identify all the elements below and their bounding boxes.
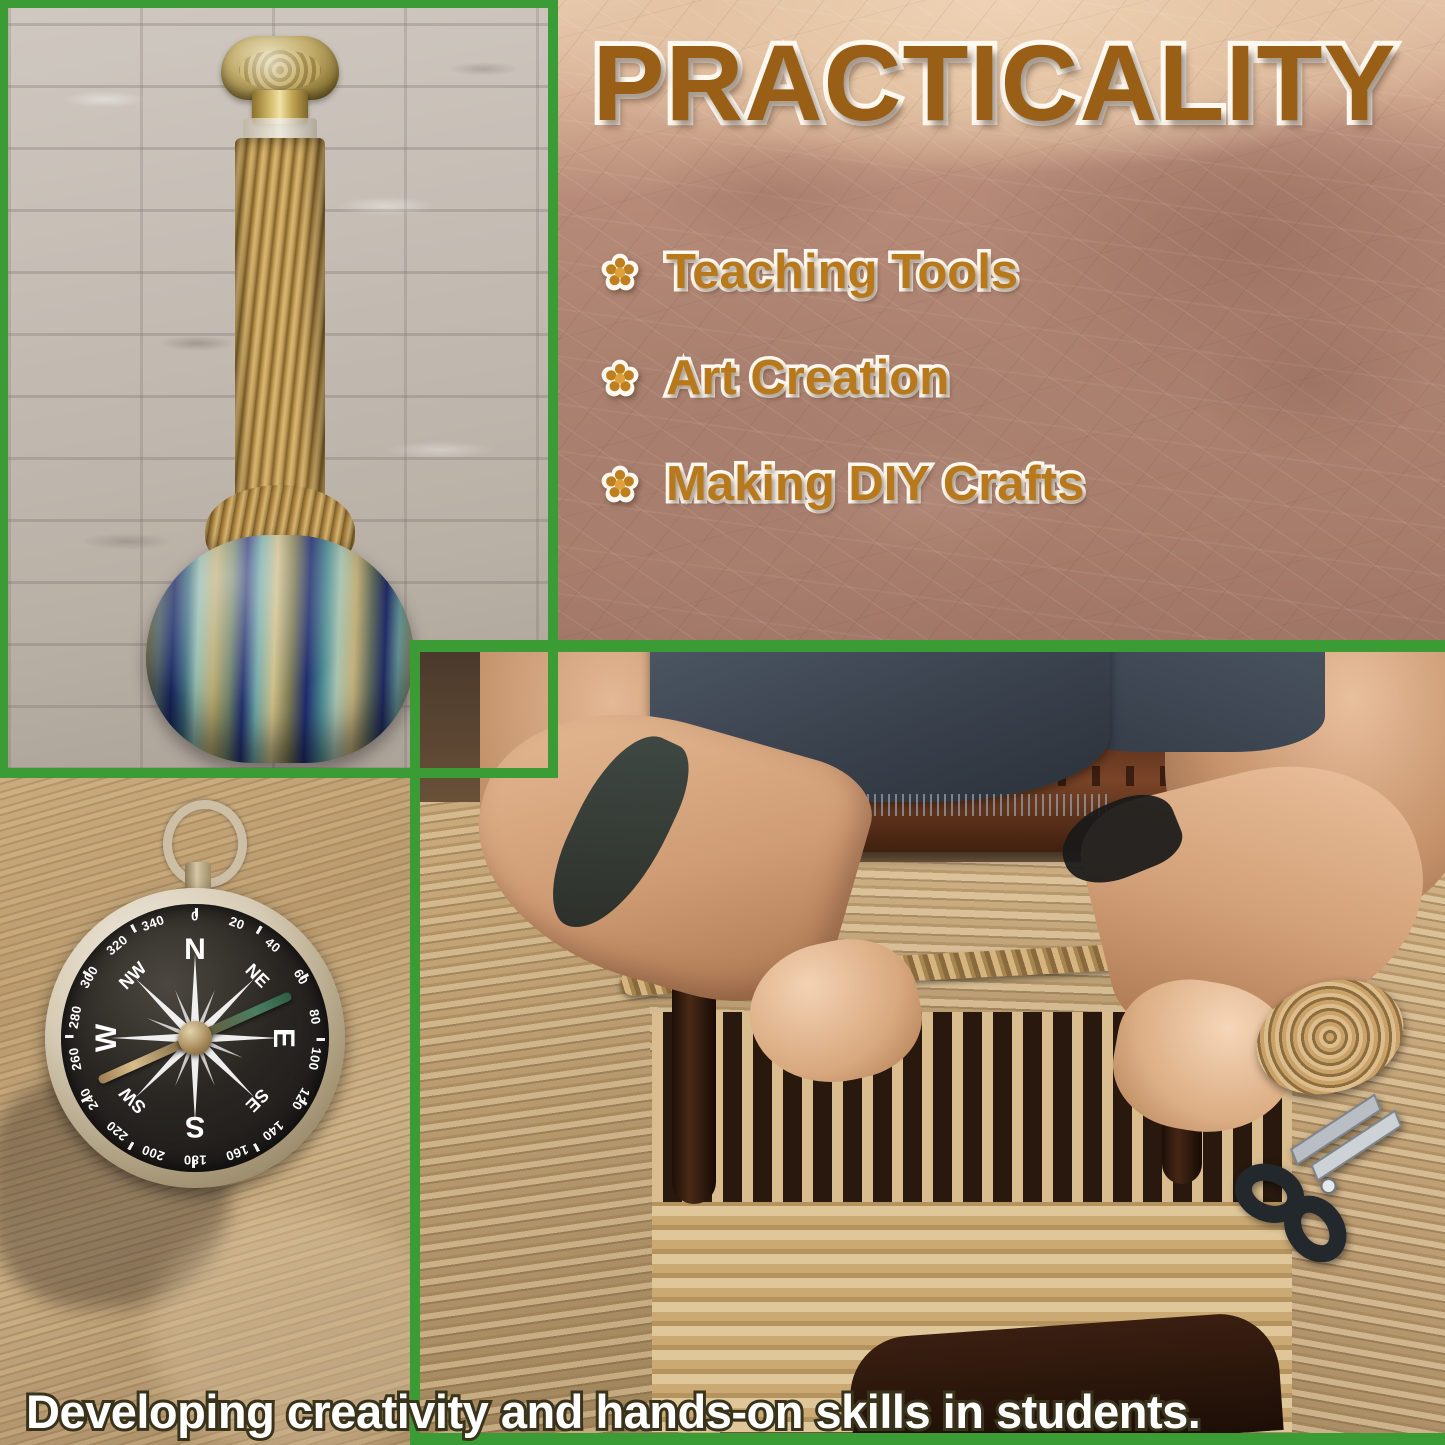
flower-bullet-icon bbox=[600, 359, 640, 399]
compass-degree-label: 0 bbox=[191, 909, 199, 924]
compass-case: 0204060801001201401601802002202402602803… bbox=[45, 888, 345, 1188]
frame-line-top bbox=[0, 0, 558, 8]
list-item-label: Making DIY Crafts bbox=[666, 458, 1084, 512]
flower-bullet-icon bbox=[600, 465, 640, 505]
compass-cardinal-label: W bbox=[90, 1024, 124, 1052]
benefit-list: Teaching Tools bbox=[600, 246, 1240, 564]
arm-tattoo bbox=[533, 719, 703, 947]
compass-cardinal-label: E bbox=[266, 1028, 300, 1048]
compass-icon: 0204060801001201401601802002202402602803… bbox=[45, 888, 345, 1188]
caption-text: Developing creativity and hands-on skill… bbox=[26, 1388, 1066, 1435]
frame-line-vertical-lower bbox=[410, 640, 420, 1445]
flower-bullet-icon bbox=[600, 253, 640, 293]
brass-compass-on-jute-photo: 0204060801001201401601802002202402602803… bbox=[0, 778, 420, 1445]
jute-rope-wrap bbox=[235, 138, 325, 508]
list-item: Art Creation bbox=[600, 352, 1240, 406]
scissors-icon bbox=[1227, 1062, 1427, 1262]
compass-cardinal-label: S bbox=[185, 1109, 205, 1143]
compass-pivot bbox=[178, 1021, 212, 1055]
list-item: Teaching Tools bbox=[600, 246, 1240, 300]
infographic-canvas: 0204060801001201401601802002202402602803… bbox=[0, 0, 1445, 1445]
compass-degree-label: 180 bbox=[183, 1153, 206, 1168]
frame-line-horizontal-right bbox=[410, 640, 1445, 652]
list-item-label: Teaching Tools bbox=[666, 246, 1018, 300]
page-title: PRACTICALITY bbox=[558, 26, 1431, 139]
drip-glazed-bottle-base bbox=[146, 535, 414, 763]
frame-line-horizontal-left bbox=[0, 768, 558, 778]
list-item-label: Art Creation bbox=[666, 352, 949, 406]
compass-degree-label: 80 bbox=[306, 1008, 323, 1026]
header-panel: PRACTICALITY bbox=[558, 0, 1445, 642]
list-item: Making DIY Crafts bbox=[600, 458, 1240, 512]
chair-seat-weaving-photo bbox=[420, 652, 1445, 1435]
bottle-illustration bbox=[146, 30, 414, 750]
frame-line-left-top bbox=[0, 0, 8, 778]
frame-line-vertical-upper bbox=[548, 0, 558, 778]
compass-cardinal-label: N bbox=[184, 933, 206, 967]
